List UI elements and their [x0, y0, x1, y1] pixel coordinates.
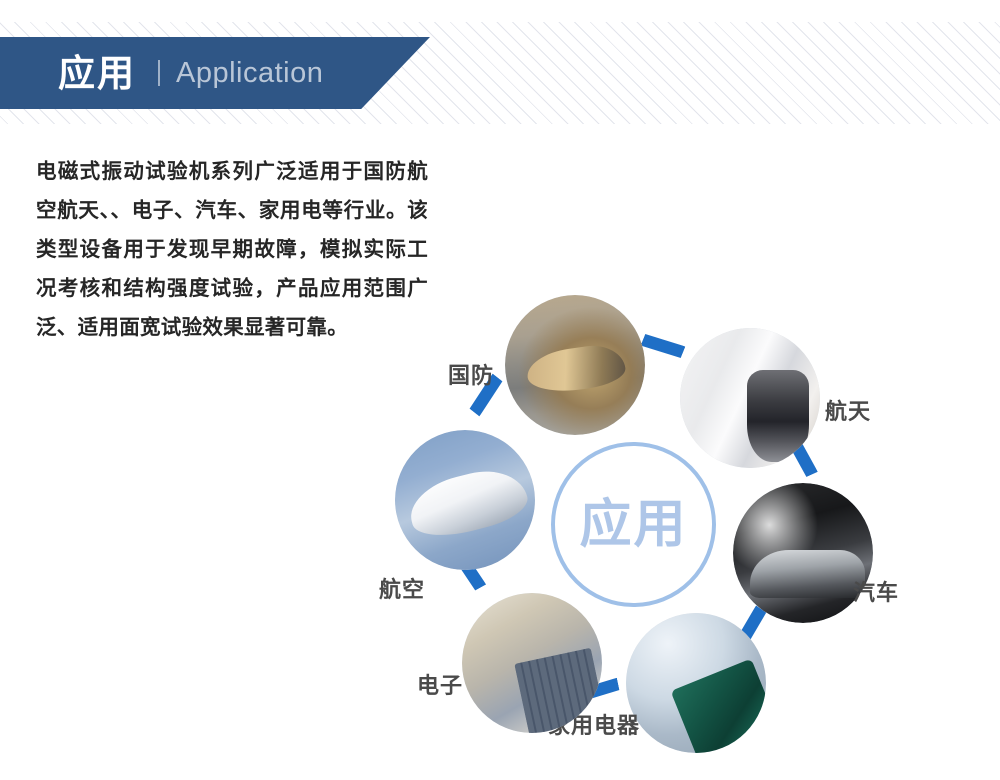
page-title-en: Application — [176, 59, 323, 88]
node-aviation[interactable] — [395, 430, 535, 570]
connector-dash-defense-aerospace — [641, 331, 686, 362]
kitchen-appliances-photo — [680, 328, 820, 468]
application-diagram: 应用 国防 航天 汽车 家用电器 电子 航空 — [370, 290, 930, 760]
passenger-airplane-photo — [395, 430, 535, 570]
node-home-appliance[interactable] — [626, 613, 766, 753]
header-divider — [158, 60, 160, 86]
node-automobile[interactable] — [733, 483, 873, 623]
node-electronics[interactable] — [462, 593, 602, 733]
node-label-automobile: 汽车 — [853, 575, 899, 607]
satellite-solar-panels-photo — [462, 593, 602, 733]
gloved-hand-circuit-board-photo — [626, 613, 766, 753]
diagram-center-label: 应用 — [579, 499, 687, 551]
node-label-aerospace: 航天 — [825, 394, 871, 426]
diagram-center-circle: 应用 — [551, 442, 716, 607]
application-page: 应用 Application 电磁式振动试验机系列广泛适用于国防航空航天、、电子… — [0, 0, 1000, 780]
fighter-jet-on-carrier-photo — [505, 295, 645, 435]
node-aerospace[interactable] — [680, 328, 820, 468]
node-label-electronics: 电子 — [417, 668, 463, 700]
node-label-defense: 国防 — [448, 358, 494, 390]
node-label-aviation: 航空 — [379, 572, 425, 604]
page-title-cn: 应用 — [58, 55, 136, 92]
node-defense[interactable] — [505, 295, 645, 435]
car-front-headlight-photo — [733, 483, 873, 623]
header-banner: 应用 Application — [0, 37, 430, 109]
